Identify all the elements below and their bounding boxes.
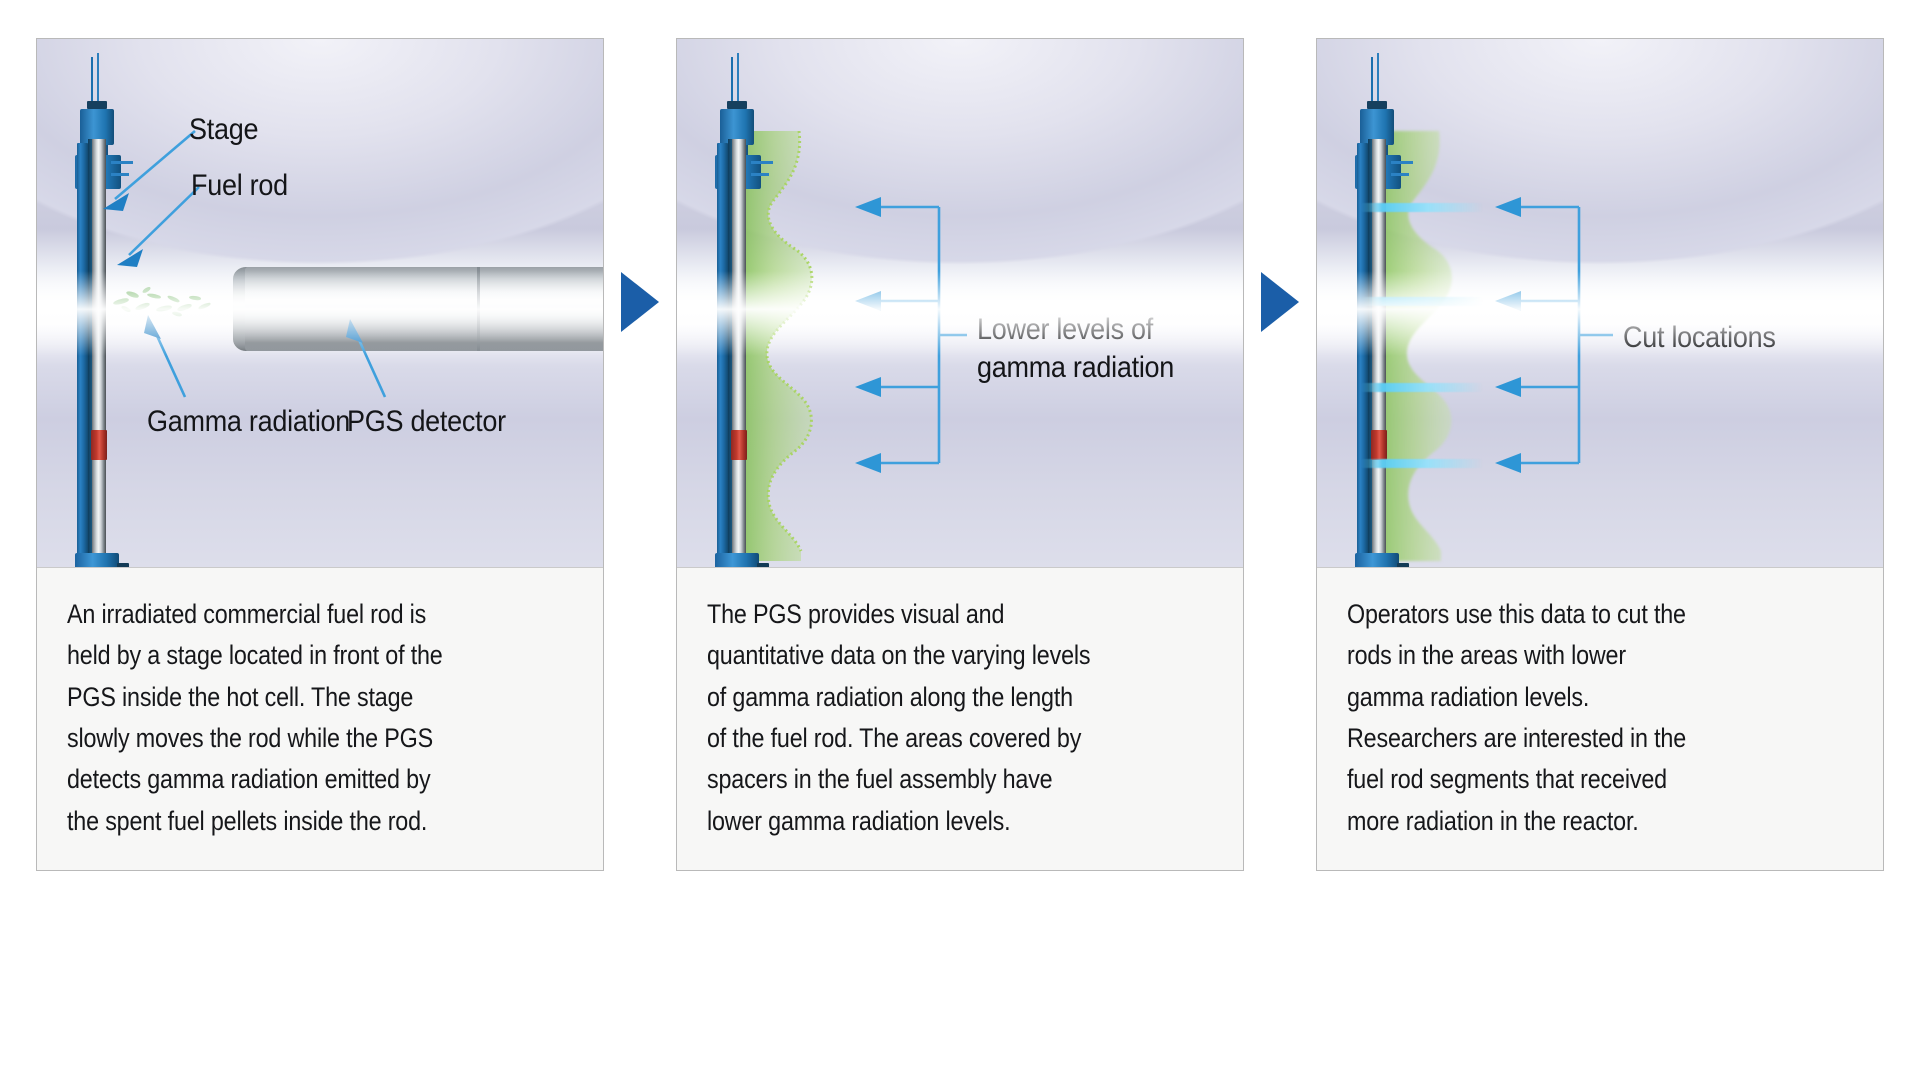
caption-line: the spent fuel pellets inside the rod. (67, 801, 512, 842)
caption-line: of the fuel rod. The areas covered by (707, 718, 1152, 759)
caption-line: detects gamma radiation emitted by (67, 759, 512, 800)
flow-arrow-1 (608, 38, 672, 566)
caption-line: The PGS provides visual and (707, 594, 1152, 635)
caption-line: Operators use this data to cut the (1347, 594, 1792, 635)
label-lower-levels-line1: Lower levels of (977, 311, 1174, 349)
caption-line: fuel rod segments that received (1347, 759, 1792, 800)
caption-line: spacers in the fuel assembly have (707, 759, 1152, 800)
caption-line: held by a stage located in front of the (67, 635, 512, 676)
label-pgs-detector: PGS detector (347, 403, 524, 441)
panel-3-illustration: Cut locations (1317, 39, 1883, 567)
triangle-right-icon (1261, 272, 1299, 332)
caption-line: of gamma radiation along the length (707, 677, 1152, 718)
label-lower-levels-line2: gamma radiation (977, 349, 1174, 387)
caption-line: An irradiated commercial fuel rod is (67, 594, 512, 635)
panel-3-callout-bracket (1317, 39, 1883, 567)
label-stage-text: Stage (189, 111, 258, 149)
panel-1-leader-lines (37, 39, 603, 567)
label-pgs-detector-text: PGS detector (347, 403, 506, 441)
label-fuel-rod-text: Fuel rod (191, 167, 288, 205)
panel-3-caption: Operators use this data to cut the rods … (1317, 567, 1883, 870)
caption-line: quantitative data on the varying levels (707, 635, 1152, 676)
panel-1: Stage Fuel rod Gamma radiation PGS detec… (36, 38, 604, 871)
panel-2: Lower levels of gamma radiation The PGS … (676, 38, 1244, 871)
panel-2-caption: The PGS provides visual and quantitative… (677, 567, 1243, 870)
label-gamma-radiation: Gamma radiation (147, 403, 373, 441)
caption-line: more radiation in the reactor. (1347, 801, 1792, 842)
caption-line: Researchers are interested in the (1347, 718, 1792, 759)
panel-2-illustration: Lower levels of gamma radiation (677, 39, 1243, 567)
label-cut-locations-text: Cut locations (1623, 319, 1776, 357)
caption-line: rods in the areas with lower (1347, 635, 1792, 676)
panel-1-illustration: Stage Fuel rod Gamma radiation PGS detec… (37, 39, 603, 567)
label-stage: Stage (189, 111, 266, 149)
label-lower-levels-of-gamma-radiation: Lower levels of gamma radiation (977, 311, 1196, 388)
caption-line: gamma radiation levels. (1347, 677, 1792, 718)
label-gamma-radiation-text: Gamma radiation (147, 403, 350, 441)
caption-line: slowly moves the rod while the PGS (67, 718, 512, 759)
panel-2-callout-bracket (677, 39, 1243, 567)
label-fuel-rod: Fuel rod (191, 167, 299, 205)
flow-arrow-2 (1248, 38, 1312, 566)
panel-3: Cut locations Operators use this data to… (1316, 38, 1884, 871)
infographic-board: Stage Fuel rod Gamma radiation PGS detec… (0, 0, 1920, 1083)
label-cut-locations: Cut locations (1623, 319, 1793, 357)
triangle-right-icon (621, 272, 659, 332)
panel-1-caption: An irradiated commercial fuel rod is hel… (37, 567, 603, 870)
caption-line: lower gamma radiation levels. (707, 801, 1152, 842)
caption-line: PGS inside the hot cell. The stage (67, 677, 512, 718)
